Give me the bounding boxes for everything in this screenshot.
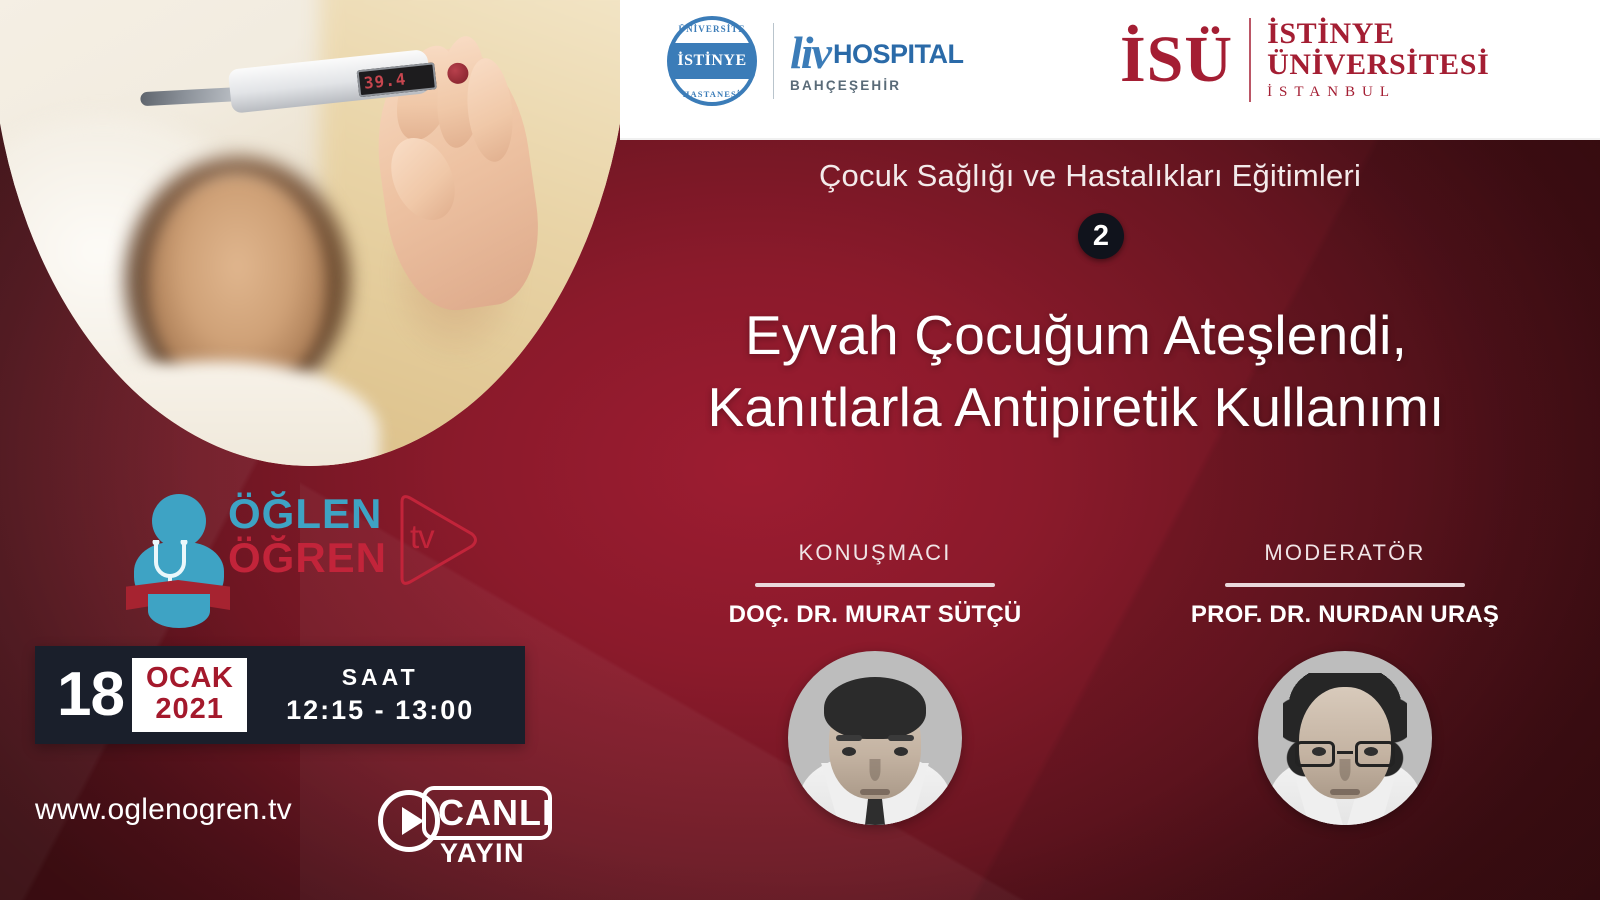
istinye-universitesi-logo: İSÜ İSTİNYE ÜNİVERSİTESİ İSTANBUL xyxy=(1120,18,1489,102)
isu-line-2: ÜNİVERSİTESİ xyxy=(1267,50,1489,81)
avatar-hair xyxy=(824,677,926,739)
liv-branch-text: BAHÇEŞEHİR xyxy=(790,78,963,93)
tv-triangle-outline xyxy=(392,492,480,588)
date-time-bar: 18 OCAK 2021 SAAT 12:15 - 13:00 xyxy=(35,646,525,744)
seal-bottom-text: HASTANESİ xyxy=(667,89,757,99)
liv-mark: liv xyxy=(790,33,830,73)
liv-hospital-text: HOSPITAL xyxy=(833,39,964,73)
date-month-box: OCAK 2021 xyxy=(132,658,247,732)
oglenogren-tv-logo[interactable]: ÖĞLEN ÖĞREN tv xyxy=(120,486,470,616)
play-triangle xyxy=(402,807,424,835)
brand-line-1: ÖĞLEN xyxy=(228,492,387,536)
liv-hospital-logo: ÜNİVERSİTE İSTİNYE HASTANESİ liv HOSPITA… xyxy=(667,16,963,106)
brand-wordmark: ÖĞLEN ÖĞREN xyxy=(228,492,387,579)
doctor-reading-icon xyxy=(126,494,226,612)
date-year: 2021 xyxy=(155,695,224,724)
brand-line-2: ÖĞREN xyxy=(228,536,387,580)
liv-wordmark-block: liv HOSPITAL BAHÇEŞEHİR xyxy=(790,29,963,93)
speaker-name: DOÇ. DR. MURAT SÜTÇÜ xyxy=(729,601,1022,629)
avatar-eye xyxy=(842,747,856,756)
doctor-lower-body xyxy=(148,594,210,628)
moderator-role-label: MODERATÖR xyxy=(1264,540,1425,566)
website-url[interactable]: www.oglenogren.tv xyxy=(35,793,292,827)
avatar-mouth xyxy=(860,789,890,795)
time-value: 12:15 - 13:00 xyxy=(247,695,513,726)
avatar xyxy=(1258,651,1432,825)
speaker-rule xyxy=(755,583,995,587)
moderator-name: PROF. DR. NURDAN URAŞ xyxy=(1191,601,1499,629)
seal-band: İSTİNYE xyxy=(669,43,755,79)
istinye-hastanesi-seal-icon: ÜNİVERSİTE İSTİNYE HASTANESİ xyxy=(667,16,757,106)
date-day: 18 xyxy=(35,664,128,726)
series-title: Çocuk Sağlığı ve Hastalıkları Eğitimleri xyxy=(620,158,1560,194)
seal-main-text: İSTİNYE xyxy=(677,52,746,70)
moderator-rule xyxy=(1225,583,1465,587)
tv-play-icon: tv xyxy=(392,492,480,588)
isu-mark: İSÜ xyxy=(1120,29,1233,92)
avatar xyxy=(788,651,962,825)
participant-moderator: MODERATÖR PROF. DR. NURDAN URAŞ xyxy=(1110,540,1580,890)
photo-child-head xyxy=(150,176,325,391)
seal-top-text: ÜNİVERSİTE xyxy=(667,24,757,34)
avatar-nose xyxy=(1340,759,1351,781)
title-line-2: Kanıtlarla Antipiretik Kullanımı xyxy=(556,372,1596,444)
live-sub-label: YAYIN xyxy=(440,838,525,869)
photo-backdrop: 39.4 xyxy=(0,0,630,466)
speaker-role-label: KONUŞMACI xyxy=(798,540,951,566)
date-month: OCAK xyxy=(146,664,233,693)
time-block: SAAT 12:15 - 13:00 xyxy=(247,664,525,726)
isu-divider xyxy=(1249,18,1251,102)
event-poster: 39.4 ÜNİVERSİTE İSTİNYE HASTANESİ liv xyxy=(0,0,1600,900)
participants-section: KONUŞMACI DOÇ. DR. MURAT SÜTÇÜ MODERATÖ xyxy=(640,540,1580,890)
avatar-mouth xyxy=(1330,789,1360,795)
sponsor-header-bar: ÜNİVERSİTE İSTİNYE HASTANESİ liv HOSPITA… xyxy=(620,0,1600,140)
live-broadcast-badge[interactable]: CANLI YAYIN xyxy=(378,782,558,874)
thermometer-body: 39.4 xyxy=(228,49,432,114)
live-label: CANLI xyxy=(438,792,553,834)
avatar-lens xyxy=(1355,741,1395,767)
isu-wordmark: İSTİNYE ÜNİVERSİTESİ İSTANBUL xyxy=(1267,19,1489,100)
isu-line-1: İSTİNYE xyxy=(1267,19,1489,50)
participant-speaker: KONUŞMACI DOÇ. DR. MURAT SÜTÇÜ xyxy=(640,540,1110,890)
avatar-bridge xyxy=(1337,751,1353,754)
avatar-eye xyxy=(894,747,908,756)
page-title: Eyvah Çocuğum Ateşlendi, Kanıtlarla Anti… xyxy=(556,300,1596,443)
thermometer-lcd: 39.4 xyxy=(357,62,437,97)
title-line-1: Eyvah Çocuğum Ateşlendi, xyxy=(556,300,1596,372)
isu-line-3: İSTANBUL xyxy=(1267,84,1489,101)
time-label: SAAT xyxy=(247,664,513,691)
logo-divider xyxy=(773,23,774,99)
avatar-lens xyxy=(1295,741,1335,767)
episode-number-badge: 2 xyxy=(1078,213,1124,259)
avatar-eyebrow xyxy=(836,735,862,741)
avatar-eyebrow xyxy=(888,735,914,741)
thermometer-reading: 39.4 xyxy=(357,62,437,97)
avatar-nose xyxy=(870,759,881,781)
hero-photo-child-with-thermometer: 39.4 xyxy=(0,0,630,466)
tv-label: tv xyxy=(410,518,434,556)
